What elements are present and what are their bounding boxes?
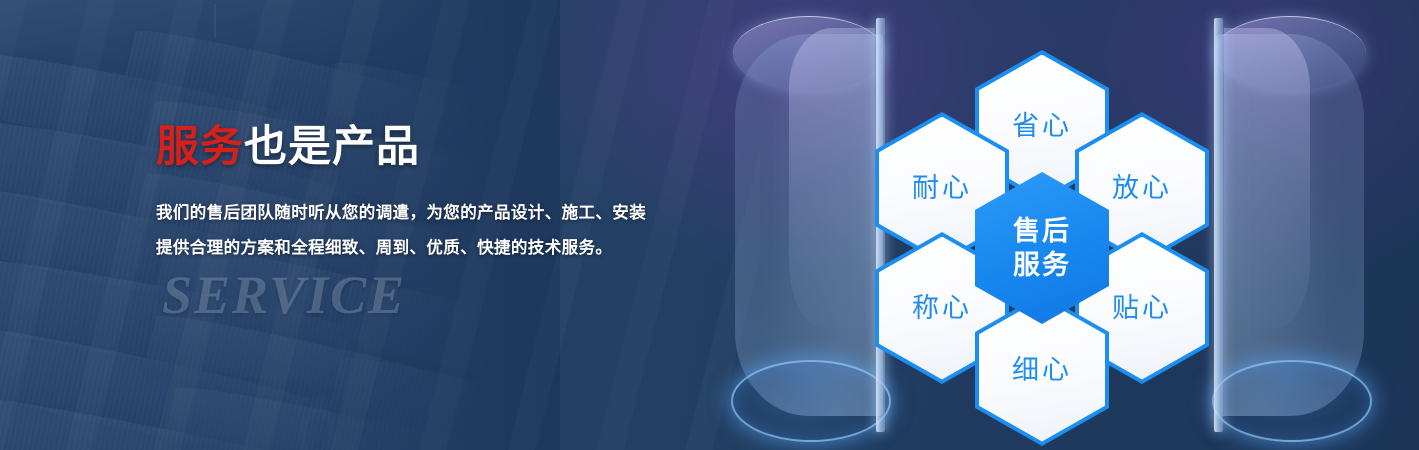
pipe xyxy=(142,307,539,450)
glass-sheen xyxy=(1224,28,1310,328)
hex-center-line-2: 服务 xyxy=(1013,250,1071,280)
hex-center-line-1: 售后 xyxy=(1013,216,1071,246)
pipe xyxy=(327,349,560,450)
glass-bottom-glow-ring xyxy=(1212,360,1372,442)
service-banner: 服务也是产品 我们的售后团队随时听从您的调遣，为您的产品设计、施工、安装 提供合… xyxy=(0,0,1419,450)
description-line-2: 提供合理的方案和全程细致、周到、优质、快捷的技术服务。 xyxy=(156,231,756,266)
page-title: 服务也是产品 xyxy=(156,126,756,169)
glass-cylinder-right xyxy=(1216,34,1364,416)
pipe xyxy=(163,379,550,450)
hex-label: 放心 xyxy=(1112,175,1172,202)
hexagon-cluster: 省心 耐心 放心 称心 贴心 xyxy=(862,42,1222,408)
hex-label: 贴心 xyxy=(1112,295,1172,322)
service-watermark: SERVICE xyxy=(162,264,406,326)
sky-strip xyxy=(0,0,560,64)
hex-center-label: 售后 服务 xyxy=(1013,214,1071,282)
headline-rest: 也是产品 xyxy=(244,123,420,171)
hex-label: 省心 xyxy=(1012,113,1072,140)
headline-block: 服务也是产品 我们的售后团队随时听从您的调遣，为您的产品设计、施工、安装 提供合… xyxy=(156,126,756,266)
utility-pole xyxy=(214,4,216,38)
hex-label: 称心 xyxy=(912,295,972,322)
description-line-1: 我们的售后团队随时听从您的调遣，为您的产品设计、施工、安装 xyxy=(156,196,756,231)
hex-label: 耐心 xyxy=(912,175,972,202)
glass-cylinder-left xyxy=(735,34,883,416)
hex-label: 细心 xyxy=(1012,357,1072,384)
pipe xyxy=(0,317,324,450)
pipe xyxy=(0,385,350,450)
headline-accent: 服务 xyxy=(156,123,244,171)
